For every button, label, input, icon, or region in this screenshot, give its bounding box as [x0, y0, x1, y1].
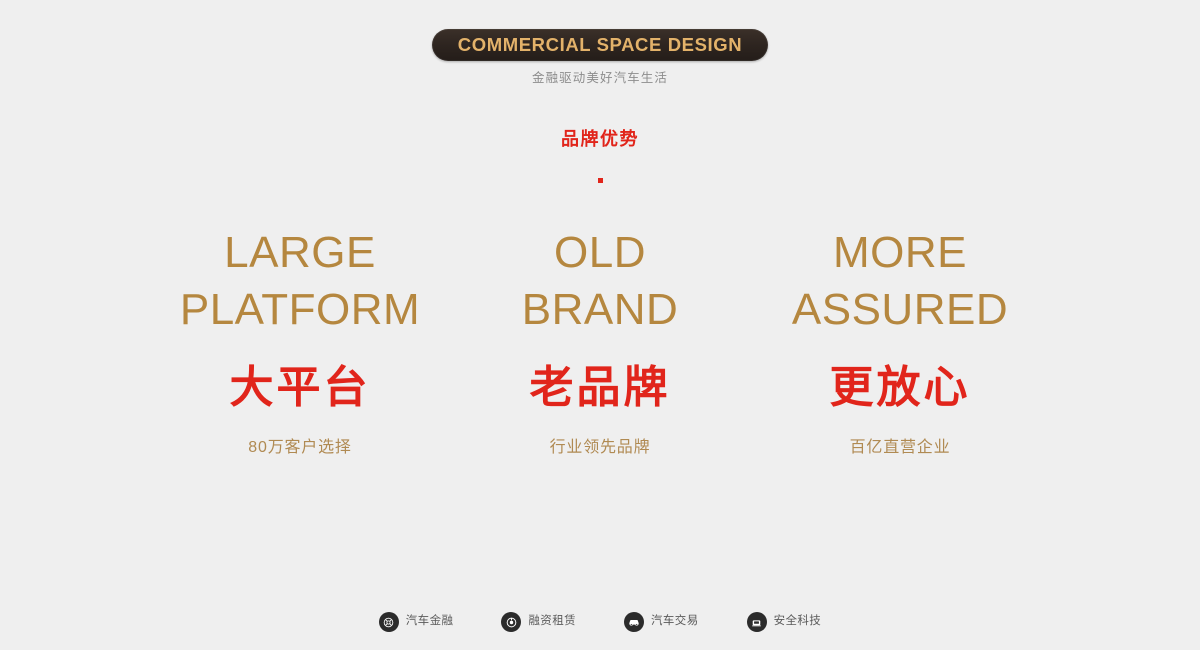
- advantage-card-old-brand: OLD BRAND 老品牌 行业领先品牌: [450, 224, 750, 456]
- commercial-space-design-banner: COMMERCIAL SPACE DESIGN: [432, 29, 768, 61]
- advantage-en-line-1: LARGE: [150, 224, 450, 281]
- section-divider-dot: [598, 178, 603, 183]
- advantage-cn-heading: 更放心: [750, 366, 1050, 410]
- section-title-block: 品牌优势: [0, 130, 1200, 183]
- footer-services: 汽车金融 融资租赁 汽车交易: [0, 612, 1200, 632]
- advantage-en-heading: LARGE PLATFORM: [150, 224, 450, 338]
- car-trade-icon: [624, 612, 644, 632]
- advantage-en-line-1: OLD: [450, 224, 750, 281]
- advantage-cn-heading: 大平台: [150, 366, 450, 410]
- footer-item-label: 安全科技: [774, 616, 822, 628]
- footer-item-leasing[interactable]: 融资租赁: [501, 612, 576, 632]
- advantage-description: 行业领先品牌: [450, 440, 750, 456]
- footer-item-auto-finance[interactable]: 汽车金融: [379, 612, 454, 632]
- leasing-target-icon: [501, 612, 521, 632]
- header-subtitle: 金融驱动美好汽车生活: [532, 72, 668, 85]
- advantage-columns: LARGE PLATFORM 大平台 80万客户选择 OLD BRAND 老品牌…: [0, 224, 1200, 456]
- advantage-card-large-platform: LARGE PLATFORM 大平台 80万客户选择: [150, 224, 450, 456]
- auto-finance-icon: [379, 612, 399, 632]
- advantage-en-line-2: BRAND: [450, 281, 750, 338]
- security-shield-icon: [747, 612, 767, 632]
- section-title: 品牌优势: [0, 130, 1200, 148]
- advantage-description: 百亿直营企业: [750, 440, 1050, 456]
- banner-title: COMMERCIAL SPACE DESIGN: [458, 36, 742, 55]
- footer-item-label: 融资租赁: [528, 616, 576, 628]
- advantage-card-more-assured: MORE ASSURED 更放心 百亿直营企业: [750, 224, 1050, 456]
- advantage-en-line-1: MORE: [750, 224, 1050, 281]
- footer-item-label: 汽车交易: [651, 616, 699, 628]
- advantage-en-line-2: PLATFORM: [150, 281, 450, 338]
- advantage-en-heading: OLD BRAND: [450, 224, 750, 338]
- advantage-en-heading: MORE ASSURED: [750, 224, 1050, 338]
- advantage-en-line-2: ASSURED: [750, 281, 1050, 338]
- advantage-cn-heading: 老品牌: [450, 366, 750, 410]
- page-header: COMMERCIAL SPACE DESIGN 金融驱动美好汽车生活: [0, 0, 1200, 100]
- footer-item-car-trade[interactable]: 汽车交易: [624, 612, 699, 632]
- footer-item-security-tech[interactable]: 安全科技: [747, 612, 822, 632]
- advantage-description: 80万客户选择: [150, 440, 450, 456]
- footer-item-label: 汽车金融: [406, 616, 454, 628]
